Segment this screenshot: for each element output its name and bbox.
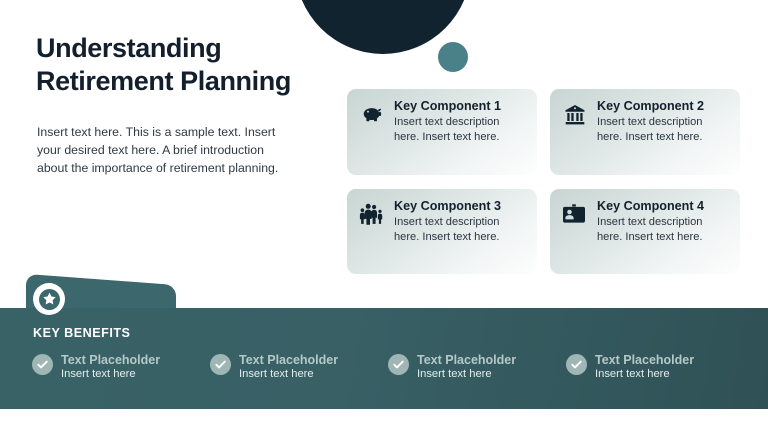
page-title: Understanding Retirement Planning [36,32,336,98]
key-benefit-item-3[interactable]: Text Placeholder Insert text here [388,353,566,382]
key-benefit-item-1-label: Text Placeholder [61,353,160,367]
bank-icon [561,101,588,128]
key-component-card-3-title: Key Component 3 [394,199,527,213]
page-title-line-2: Retirement Planning [36,66,291,96]
key-benefit-item-2-label: Text Placeholder [239,353,338,367]
check-circle-icon [32,354,53,375]
key-component-card-3-desc: Insert text description here. Insert tex… [394,215,527,245]
family-icon [358,201,385,228]
key-benefit-item-1-text: Text Placeholder Insert text here [61,353,160,382]
key-benefit-item-4[interactable]: Text Placeholder Insert text here [566,353,744,382]
key-benefit-item-4-text: Text Placeholder Insert text here [595,353,694,382]
key-benefit-item-2-text: Text Placeholder Insert text here [239,353,338,382]
key-benefits-list: Text Placeholder Insert text here Text P… [32,353,744,382]
key-benefit-item-4-label: Text Placeholder [595,353,694,367]
key-benefits-heading: KEY BENEFITS [33,326,130,340]
key-benefit-item-3-label: Text Placeholder [417,353,516,367]
key-component-card-3[interactable]: Key Component 3 Insert text description … [347,189,537,275]
key-component-card-2-body: Key Component 2 Insert text description … [597,98,730,145]
key-component-card-4-body: Key Component 4 Insert text description … [597,198,730,245]
key-benefit-item-4-sub: Insert text here [595,368,694,381]
key-component-card-1-body: Key Component 1 Insert text description … [394,98,527,145]
id-badge-icon [561,201,588,228]
page-title-line-1: Understanding [36,33,221,63]
key-benefit-item-2-sub: Insert text here [239,368,338,381]
star-icon [33,283,65,315]
key-benefit-item-1[interactable]: Text Placeholder Insert text here [32,353,210,382]
key-components-grid: Key Component 1 Insert text description … [347,89,740,274]
key-benefit-item-3-text: Text Placeholder Insert text here [417,353,516,382]
key-component-card-2-title: Key Component 2 [597,99,730,113]
key-component-card-1-desc: Insert text description here. Insert tex… [394,115,527,145]
key-component-card-4-desc: Insert text description here. Insert tex… [597,215,730,245]
check-circle-icon [566,354,587,375]
key-component-card-2[interactable]: Key Component 2 Insert text description … [550,89,740,175]
key-component-card-4[interactable]: Key Component 4 Insert text description … [550,189,740,275]
key-component-card-1[interactable]: Key Component 1 Insert text description … [347,89,537,175]
key-component-card-1-title: Key Component 1 [394,99,527,113]
check-circle-icon [388,354,409,375]
check-circle-icon [210,354,231,375]
key-component-card-3-body: Key Component 3 Insert text description … [394,198,527,245]
intro-paragraph: Insert text here. This is a sample text.… [37,124,292,178]
key-component-card-2-desc: Insert text description here. Insert tex… [597,115,730,145]
key-component-card-4-title: Key Component 4 [597,199,730,213]
decorative-teal-dot [438,42,468,72]
key-benefit-item-3-sub: Insert text here [417,368,516,381]
piggy-bank-icon [358,101,385,128]
key-benefit-item-2[interactable]: Text Placeholder Insert text here [210,353,388,382]
key-benefit-item-1-sub: Insert text here [61,368,160,381]
